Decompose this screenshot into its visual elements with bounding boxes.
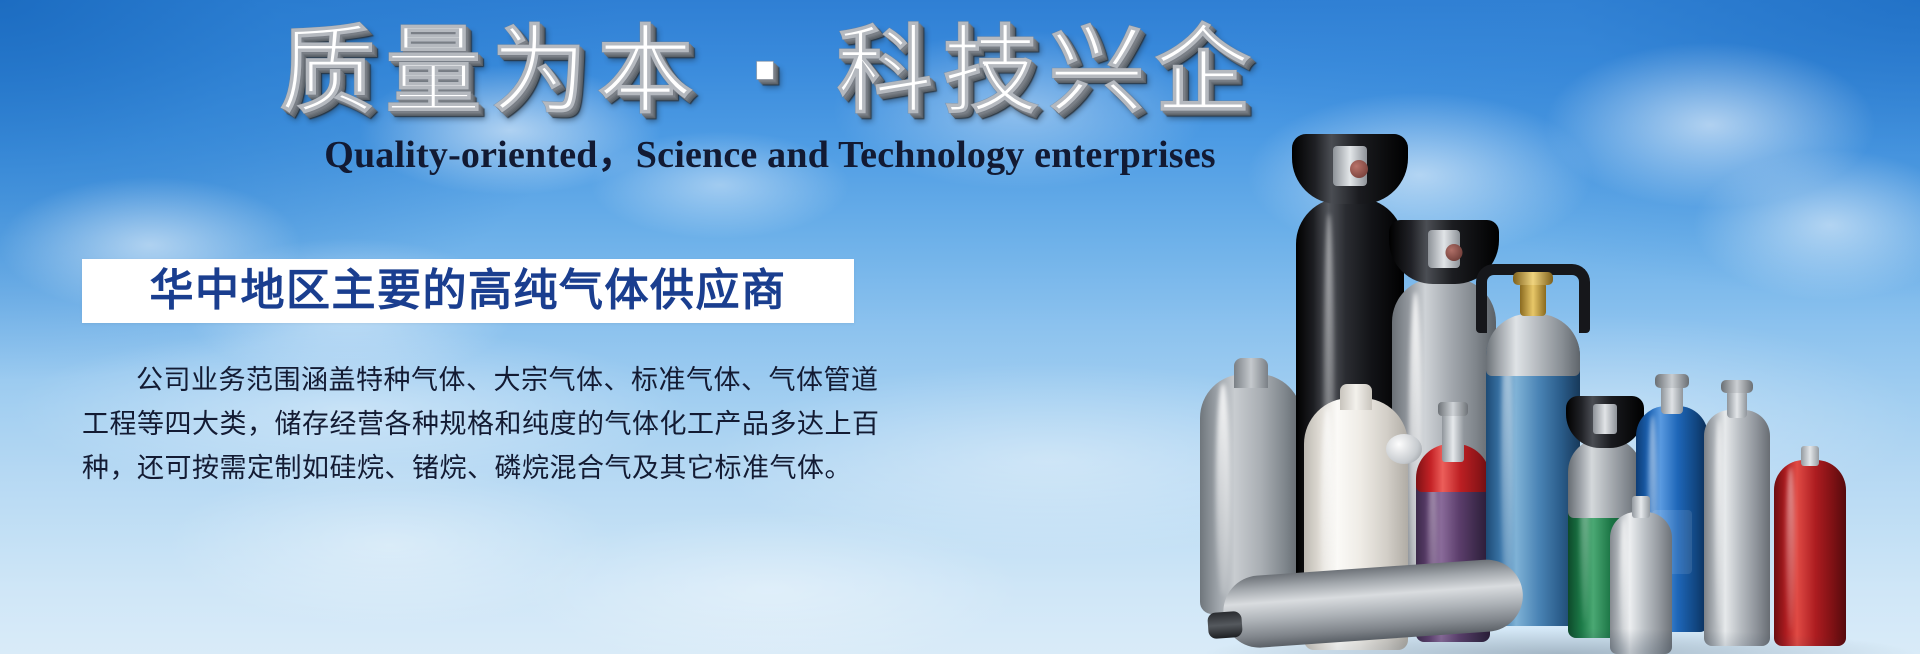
cylinder-neck <box>1661 384 1683 414</box>
paragraph-line: 工程等四大类，储存经营各种规格和纯度的气体化工产品多达上百 <box>82 402 872 446</box>
cylinder-gray-shoulder <box>1568 438 1642 518</box>
description-paragraph: 公司业务范围涵盖特种气体、大宗气体、标准气体、气体管道 工程等四大类，储存经营各… <box>82 358 872 490</box>
paragraph-line: 种，还可按需定制如硅烷、锗烷、磷烷混合气及其它标准气体。 <box>82 446 872 490</box>
cylinder-neck <box>1727 390 1747 418</box>
cylinder-neck <box>1801 446 1819 466</box>
gas-cylinder-group <box>1200 134 1920 654</box>
cylinder-regulator-gauge <box>1386 434 1422 464</box>
tagline-text: 华中地区主要的高纯气体供应商 <box>150 269 787 313</box>
cylinder-brass-knob <box>1513 272 1553 285</box>
hero-banner: 质量为本 · 科技兴企 Quality-oriented，Science and… <box>0 0 1920 654</box>
subheadline-container: Quality-oriented，Science and Technology … <box>0 136 1540 174</box>
cylinder-neck <box>1340 384 1372 410</box>
tagline-box: 华中地区主要的高纯气体供应商 <box>82 259 854 323</box>
cylinder-valve <box>1593 404 1617 434</box>
cylinder-valve <box>1442 412 1464 462</box>
paragraph-line: 公司业务范围涵盖特种气体、大宗气体、标准气体、气体管道 <box>82 358 872 402</box>
headline-container: 质量为本 · 科技兴企 <box>0 18 1540 126</box>
cylinder-neck <box>1234 358 1268 388</box>
red-aluminum-cylinder <box>1774 460 1846 646</box>
cylinder-handwheel <box>1655 374 1689 388</box>
page-subtitle: Quality-oriented，Science and Technology … <box>324 136 1216 174</box>
cylinder-brass-valve <box>1520 282 1546 316</box>
silver-aluminum-cylinder <box>1704 410 1770 646</box>
cylinder-floor-shadow <box>1200 628 1920 654</box>
cylinder-neck <box>1632 496 1650 518</box>
cylinder-handwheel <box>1721 380 1753 393</box>
cylinder-handwheel <box>1438 402 1468 416</box>
cylinder-gauge <box>1446 244 1463 261</box>
page-title: 质量为本 · 科技兴企 <box>279 18 1260 126</box>
